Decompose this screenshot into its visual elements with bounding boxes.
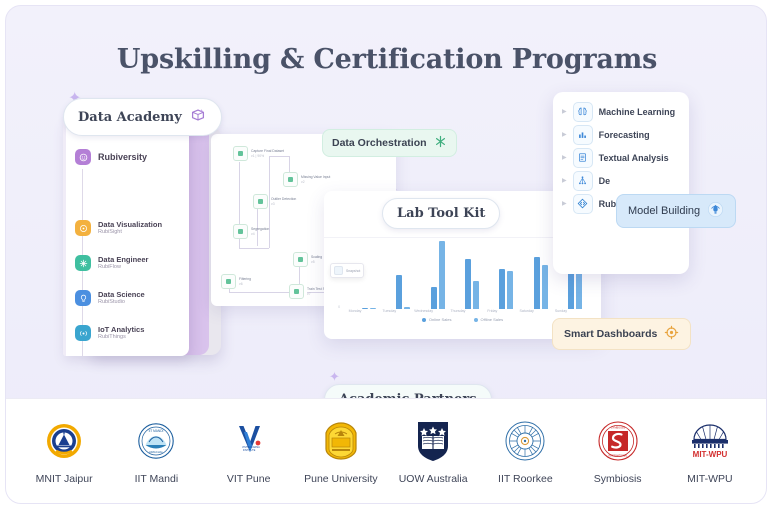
uow-australia-logo xyxy=(415,418,451,464)
chevron-right-icon: ▶ xyxy=(562,177,567,184)
menu-item-textual-analysis[interactable]: ▶ Textual Analysis xyxy=(553,146,689,169)
bulb-icon xyxy=(75,290,91,306)
mnit-jaipur-logo xyxy=(44,418,84,464)
book-item-title: Data Science xyxy=(98,290,145,299)
legend-label: Offline Sales xyxy=(481,317,504,322)
partner-item[interactable]: VISHWAKARMAINSTITUTE VIT Pune xyxy=(205,418,293,485)
pipeline-icon xyxy=(75,255,91,271)
bar-group xyxy=(528,257,554,309)
chip-model-building[interactable]: Model Building xyxy=(616,194,736,228)
bar-group xyxy=(562,273,588,309)
x-tick: Friday xyxy=(479,309,505,313)
bar-offline[interactable] xyxy=(507,271,513,309)
partner-label: Pune University xyxy=(304,473,378,485)
svg-text:IIT MANDI: IIT MANDI xyxy=(149,429,164,433)
chart-tooltip: Snapshot xyxy=(330,263,364,278)
chevron-right-icon: ▶ xyxy=(562,200,567,207)
menu-item-label: De xyxy=(599,176,611,186)
flow-node[interactable]: Capture Final Datasetv1 | 90% xyxy=(233,146,284,161)
bar-offline[interactable] xyxy=(473,281,479,309)
mit-wpu-logo: MIT-WPU xyxy=(684,418,736,464)
symbiosis-logo: SYMBIOSISINTERNATIONAL xyxy=(597,418,639,464)
flow-node-icon xyxy=(253,194,268,209)
svg-text:MIT-WPU: MIT-WPU xyxy=(693,450,728,459)
rubiversity-icon xyxy=(75,149,91,165)
chip-label: Smart Dashboards xyxy=(564,328,657,340)
flow-node-title: Filtering xyxy=(239,277,251,282)
partner-item[interactable]: UOW Australia xyxy=(389,418,477,485)
bar-online[interactable] xyxy=(396,275,402,309)
partner-label: Symbiosis xyxy=(594,473,642,485)
bar-group xyxy=(493,269,519,309)
bar-offline[interactable] xyxy=(439,241,445,309)
flow-node-icon xyxy=(233,146,248,161)
sparkle-icon: ✦ xyxy=(329,369,340,385)
book-item-data-engineer[interactable]: Data Engineer RubiFlow xyxy=(75,255,148,271)
book-item-subtitle: RubiThings xyxy=(98,334,144,341)
bar-group xyxy=(425,241,451,309)
partner-label: MNIT Jaipur xyxy=(36,473,93,485)
page-title: Upskilling & Certification Programs xyxy=(6,44,767,75)
menu-item-label: Forecasting xyxy=(599,130,650,140)
model-menu-panel: ▶ Machine Learning ▶ Forecasting ▶ Textu… xyxy=(553,92,689,274)
legend-item-online[interactable]: Online Sales xyxy=(422,317,452,322)
menu-item-decision-tree[interactable]: ▶ De xyxy=(553,169,689,192)
iit-roorkee-logo xyxy=(504,418,546,464)
legend-item-offline[interactable]: Offline Sales xyxy=(474,317,504,322)
tooltip-swatch-icon xyxy=(334,266,343,275)
bar-online[interactable] xyxy=(534,257,540,309)
document-text-icon xyxy=(573,148,593,168)
flow-node-title: Missing Value Input xyxy=(301,175,330,180)
book-item-title: IoT Analytics xyxy=(98,325,144,334)
partner-item[interactable]: Pune University xyxy=(297,418,385,485)
flow-node-subtitle: v2 xyxy=(301,180,330,185)
book-item-subtitle: RubiFlow xyxy=(98,264,148,271)
data-academy-card: Rubiversity Data Visualization RubiSight… xyxy=(63,121,223,356)
chevron-right-icon: ▶ xyxy=(562,154,567,161)
book-item-title: Data Engineer xyxy=(98,255,148,264)
chip-smart-dashboards[interactable]: Smart Dashboards xyxy=(552,318,691,350)
flow-node-icon xyxy=(221,274,236,289)
flow-node-title: Capture Final Dataset xyxy=(251,149,284,154)
bar-chart-icon xyxy=(573,125,593,145)
sparkle-asterisk-icon xyxy=(434,135,447,151)
pune-university-logo xyxy=(320,418,362,464)
rubiversity-label: Rubiversity xyxy=(98,152,147,162)
chip-lab-tool-kit[interactable]: Lab Tool Kit xyxy=(382,198,500,229)
flow-node[interactable]: Missing Value Inputv2 xyxy=(283,172,330,187)
chip-label: Lab Tool Kit xyxy=(397,206,485,221)
chart-icon xyxy=(75,220,91,236)
book-item-subtitle: RubiSight xyxy=(98,229,162,236)
flow-node-icon xyxy=(293,252,308,267)
flow-node-icon xyxy=(289,284,304,299)
partner-item[interactable]: SYMBIOSISINTERNATIONAL Symbiosis xyxy=(574,418,662,485)
book-item-iot-analytics[interactable]: IoT Analytics RubiThings xyxy=(75,325,144,341)
decision-tree-icon xyxy=(573,171,593,191)
flow-node-subtitle: v6 xyxy=(239,282,251,287)
rubiversity-header: Rubiversity xyxy=(75,149,147,165)
flow-node-subtitle: v4 xyxy=(251,232,269,237)
menu-item-forecasting[interactable]: ▶ Forecasting xyxy=(553,123,689,146)
flow-link xyxy=(239,248,269,249)
partner-label: UOW Australia xyxy=(399,473,468,485)
legend-label: Online Sales xyxy=(429,317,452,322)
chip-label: Model Building xyxy=(628,205,700,217)
svg-text:INTERNATIONAL: INTERNATIONAL xyxy=(608,454,628,457)
chip-data-academy[interactable]: Data Academy xyxy=(63,98,222,136)
flow-node[interactable]: Outlier Detectionv3 xyxy=(253,194,296,209)
chip-data-orchestration[interactable]: Data Orchestration xyxy=(322,129,457,157)
chevron-right-icon: ▶ xyxy=(562,108,567,115)
svg-text:INSTITUTE: INSTITUTE xyxy=(243,449,256,452)
vit-pune-logo: VISHWAKARMAINSTITUTE xyxy=(229,418,269,464)
menu-item-label: Machine Learning xyxy=(599,107,676,117)
tooltip-label: Snapshot xyxy=(346,269,360,273)
chip-label: Data Orchestration xyxy=(332,137,427,149)
flow-node[interactable]: Scalingv5 xyxy=(293,252,322,267)
bar-group xyxy=(459,259,485,309)
flow-node[interactable]: Filteringv6 xyxy=(221,274,251,289)
x-tick: Tuesday xyxy=(376,309,402,313)
flow-node-title: Outlier Detection xyxy=(271,197,296,202)
x-tick: Monday xyxy=(342,309,368,313)
bar-group xyxy=(390,275,416,309)
book-item-subtitle: RubiStudio xyxy=(98,299,145,306)
menu-item-label: Textual Analysis xyxy=(599,153,669,163)
bar-online[interactable] xyxy=(499,269,505,309)
partner-item[interactable]: MIT-WPU MIT-WPU xyxy=(666,418,754,485)
flow-node-title: Scaling xyxy=(311,255,322,260)
x-tick: Wednesday xyxy=(411,309,437,313)
flow-node-icon xyxy=(233,224,248,239)
menu-item-machine-learning[interactable]: ▶ Machine Learning xyxy=(553,100,689,123)
book-item-data-visualization[interactable]: Data Visualization RubiSight xyxy=(75,220,162,236)
screenshot-root: Upskilling & Certification Programs ✦ ✦ … xyxy=(0,0,772,509)
flow-node-icon xyxy=(283,172,298,187)
x-tick: Sunday xyxy=(548,309,574,313)
iit-mandi-logo: IIT MANDIHIMACHAL xyxy=(136,418,176,464)
flow-node[interactable]: Segregationv4 xyxy=(233,224,269,239)
academic-partners-strip: MNIT Jaipur IIT MANDIHIMACHAL IIT Mandi … xyxy=(6,398,767,503)
flow-node-title: Segregation xyxy=(251,227,269,232)
flask-icon xyxy=(707,201,724,221)
chart-plot-area xyxy=(338,237,588,309)
book-cover: Rubiversity Data Visualization RubiSight… xyxy=(63,121,189,356)
partner-item[interactable]: IIT MANDIHIMACHAL IIT Mandi xyxy=(112,418,200,485)
diamond-code-icon xyxy=(573,194,593,214)
legend-swatch xyxy=(422,318,426,322)
bar-online[interactable] xyxy=(568,273,574,309)
bar-online[interactable] xyxy=(465,259,471,309)
chevron-right-icon: ▶ xyxy=(562,131,567,138)
partner-item[interactable]: MNIT Jaipur xyxy=(20,418,108,485)
signal-icon xyxy=(75,325,91,341)
partner-label: IIT Mandi xyxy=(135,473,179,485)
promo-frame: Upskilling & Certification Programs ✦ ✦ … xyxy=(5,5,767,504)
cube-icon xyxy=(189,106,207,128)
flow-node-subtitle: v5 xyxy=(311,260,322,265)
book-item-title: Data Visualization xyxy=(98,220,162,229)
chart-x-axis: Monday Tuesday Wednesday Thursday Friday… xyxy=(342,309,574,313)
partner-label: IIT Roorkee xyxy=(498,473,553,485)
partner-label: VIT Pune xyxy=(227,473,271,485)
x-tick: Thursday xyxy=(445,309,471,313)
bar-offline[interactable] xyxy=(542,265,548,309)
chip-label: Data Academy xyxy=(78,110,182,125)
legend-swatch xyxy=(474,318,478,322)
x-tick: Saturday xyxy=(514,309,540,313)
bar-offline[interactable] xyxy=(576,273,582,309)
flow-node-subtitle: v1 | 90% xyxy=(251,154,284,159)
svg-text:SYMBIOSIS: SYMBIOSIS xyxy=(610,425,625,429)
book-item-data-science[interactable]: Data Science RubiStudio xyxy=(75,290,145,306)
partner-label: MIT-WPU xyxy=(687,473,733,485)
svg-text:HIMACHAL: HIMACHAL xyxy=(149,450,164,454)
brain-icon xyxy=(573,102,593,122)
gear-target-icon xyxy=(664,325,679,343)
partner-item[interactable]: IIT Roorkee xyxy=(481,418,569,485)
flow-node-subtitle: v3 xyxy=(271,202,296,207)
bar-online[interactable] xyxy=(431,287,437,309)
book-spine xyxy=(63,121,66,356)
